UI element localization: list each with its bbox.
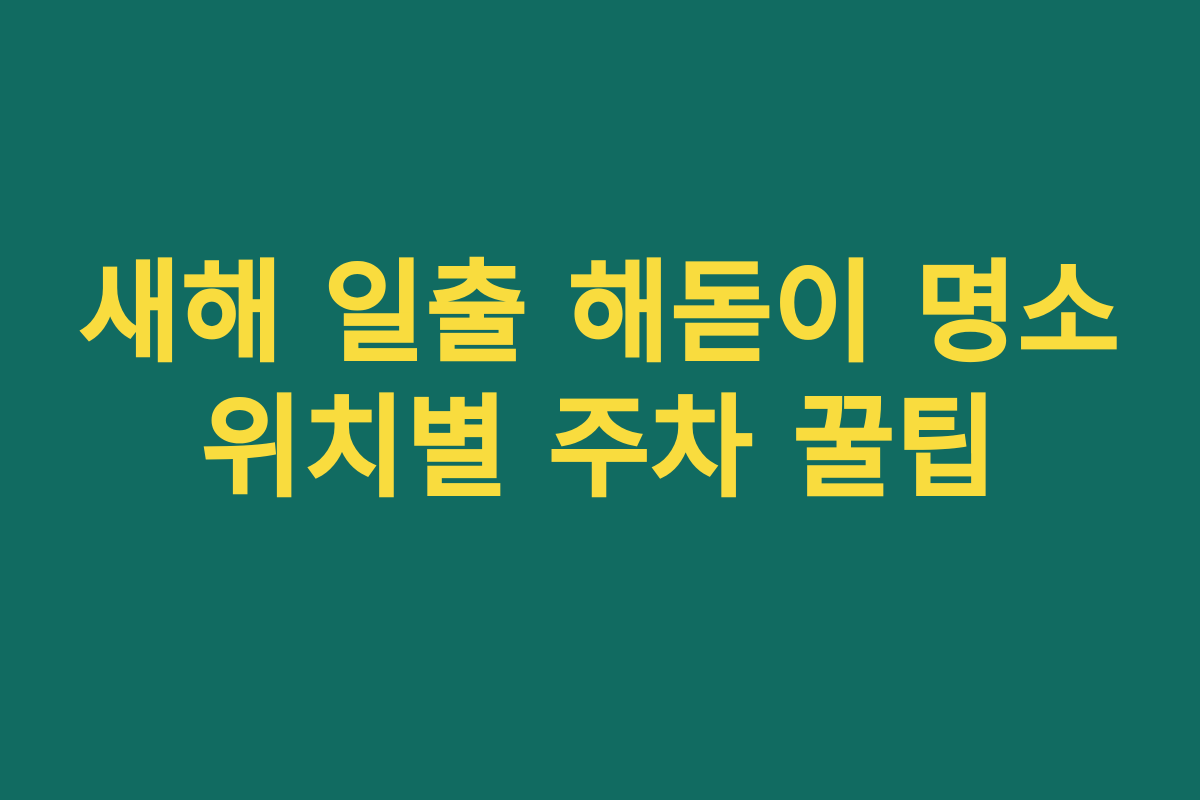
thumbnail-banner: 새해 일출 해돋이 명소 위치별 주차 꿀팁 (0, 0, 1200, 800)
title-block: 새해 일출 해돋이 명소 위치별 주차 꿀팁 (0, 0, 1200, 800)
title-line-1: 새해 일출 해돋이 명소 (0, 246, 1200, 381)
title-line-2: 위치별 주차 꿀팁 (0, 381, 1200, 516)
